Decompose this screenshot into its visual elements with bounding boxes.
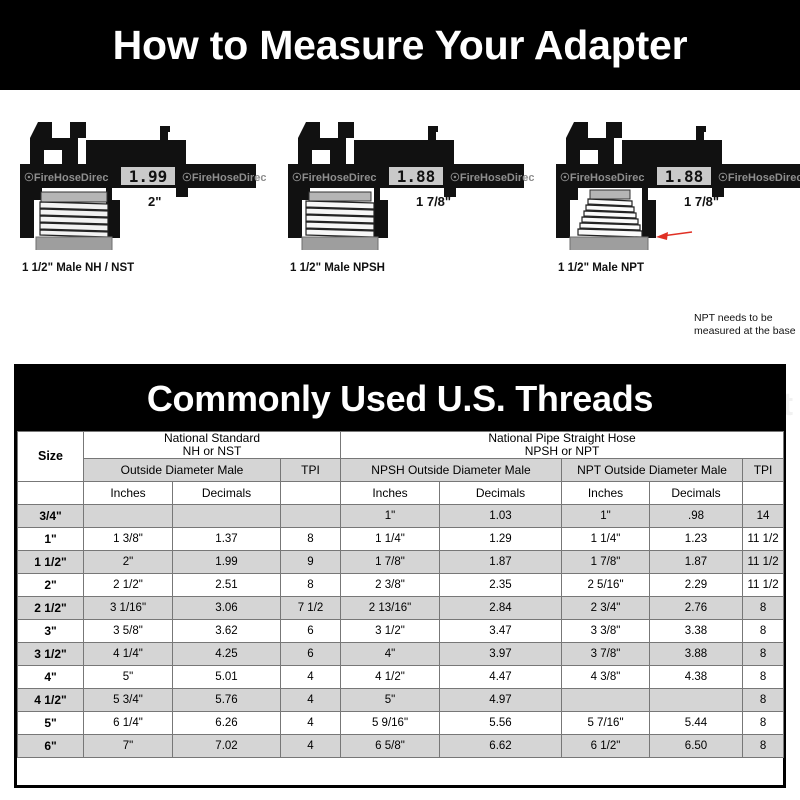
table-row: 5"6 1/4"6.2645 9/16"5.565 7/16"5.448 bbox=[18, 712, 784, 735]
header-npt-tpi: TPI bbox=[743, 459, 784, 482]
header-size: Size bbox=[18, 432, 84, 482]
cell-nh_in: 1 3/8" bbox=[84, 528, 173, 551]
header-npsh-inches: Inches bbox=[341, 482, 440, 505]
cell-size: 5" bbox=[18, 712, 84, 735]
header-npsh-decimals: Decimals bbox=[440, 482, 562, 505]
caliper-svg-npt: ☉FireHoseDirec ☉FireHoseDirect 1.88 bbox=[536, 120, 800, 250]
cell-npsh_dec: 4.97 bbox=[440, 689, 562, 712]
cell-npsh_dec: 1.87 bbox=[440, 551, 562, 574]
cell-npt_tpi: 11 1/2 bbox=[743, 551, 784, 574]
npt-note-line-1: NPT needs to be bbox=[694, 312, 796, 325]
cell-nh_dec bbox=[173, 505, 281, 528]
lcd-reading-nh: 1.99 bbox=[129, 167, 168, 186]
cell-size: 3 1/2" bbox=[18, 643, 84, 666]
cell-nh_tpi: 9 bbox=[281, 551, 341, 574]
cell-npt_in: 1 7/8" bbox=[562, 551, 650, 574]
cell-nh_tpi: 8 bbox=[281, 528, 341, 551]
caliper-illustrations: ☉FireHoseDirec ☉FireHoseDirect 1.99 bbox=[0, 90, 800, 358]
header-nh-decimals: Decimals bbox=[173, 482, 281, 505]
cell-npt_tpi: 11 1/2 bbox=[743, 528, 784, 551]
cell-nh_in: 3 5/8" bbox=[84, 620, 173, 643]
header-nh-inches: Inches bbox=[84, 482, 173, 505]
cell-npsh_in: 2 3/8" bbox=[341, 574, 440, 597]
cell-nh_in: 5" bbox=[84, 666, 173, 689]
cell-npsh_in: 3 1/2" bbox=[341, 620, 440, 643]
cell-npsh_dec: 1.29 bbox=[440, 528, 562, 551]
cell-nh_dec: 5.76 bbox=[173, 689, 281, 712]
threads-table-body: 3/4"1"1.031".98141"1 3/8"1.3781 1/4"1.29… bbox=[18, 505, 784, 758]
cell-nh_tpi: 4 bbox=[281, 712, 341, 735]
cell-nh_tpi: 6 bbox=[281, 620, 341, 643]
cell-npt_tpi: 8 bbox=[743, 735, 784, 758]
cell-npt_tpi: 11 1/2 bbox=[743, 574, 784, 597]
cell-nh_dec: 2.51 bbox=[173, 574, 281, 597]
measurement-label-npt: 1 7/8" bbox=[684, 194, 719, 209]
cell-npsh_dec: 3.97 bbox=[440, 643, 562, 666]
header-group-nh: National Standard NH or NST bbox=[84, 432, 341, 459]
header-nh-od: Outside Diameter Male bbox=[84, 459, 281, 482]
cell-size: 1 1/2" bbox=[18, 551, 84, 574]
cell-nh_dec: 5.01 bbox=[173, 666, 281, 689]
table-header-subheaders: Outside Diameter Male TPI NPSH Outside D… bbox=[18, 459, 784, 482]
cell-nh_tpi bbox=[281, 505, 341, 528]
cell-size: 3/4" bbox=[18, 505, 84, 528]
cell-nh_dec: 1.37 bbox=[173, 528, 281, 551]
caliper-diagram-npsh: ☉FireHoseDirec ☉FireHoseDirect 1.88 1 7/… bbox=[268, 90, 534, 358]
cell-nh_tpi: 4 bbox=[281, 689, 341, 712]
cell-size: 4" bbox=[18, 666, 84, 689]
cell-npsh_in: 4 1/2" bbox=[341, 666, 440, 689]
svg-text:☉FireHoseDirec: ☉FireHoseDirec bbox=[292, 172, 376, 184]
cell-size: 2 1/2" bbox=[18, 597, 84, 620]
cell-npt_tpi: 8 bbox=[743, 597, 784, 620]
caliper-svg-nh-nst: ☉FireHoseDirec ☉FireHoseDirect 1.99 bbox=[0, 120, 266, 250]
cell-nh_dec: 1.99 bbox=[173, 551, 281, 574]
cell-nh_dec: 3.62 bbox=[173, 620, 281, 643]
cell-npt_dec: 3.38 bbox=[650, 620, 743, 643]
cell-npt_in: 1 1/4" bbox=[562, 528, 650, 551]
cell-npt_in: 1" bbox=[562, 505, 650, 528]
cell-size: 4 1/2" bbox=[18, 689, 84, 712]
caliper-caption-npt: 1 1/2" Male NPT bbox=[536, 262, 800, 274]
thread-profile-straight bbox=[36, 192, 112, 250]
threads-table-title: Commonly Used U.S. Threads bbox=[17, 367, 783, 431]
cell-npsh_in: 6 5/8" bbox=[341, 735, 440, 758]
cell-nh_dec: 3.06 bbox=[173, 597, 281, 620]
cell-nh_dec: 7.02 bbox=[173, 735, 281, 758]
table-row: 3 1/2"4 1/4"4.2564"3.973 7/8"3.888 bbox=[18, 643, 784, 666]
header-group-npsh-line2: NPSH or NPT bbox=[341, 445, 783, 458]
cell-npsh_dec: 2.84 bbox=[440, 597, 562, 620]
measurement-label-nh: 2" bbox=[148, 194, 161, 209]
page-root: How to Measure Your Adapter bbox=[0, 0, 800, 800]
cell-size: 1" bbox=[18, 528, 84, 551]
cell-npt_tpi: 14 bbox=[743, 505, 784, 528]
svg-text:☉FireHoseDirect: ☉FireHoseDirect bbox=[182, 172, 266, 184]
cell-size: 6" bbox=[18, 735, 84, 758]
cell-npt_dec: 2.76 bbox=[650, 597, 743, 620]
cell-npt_in: 3 7/8" bbox=[562, 643, 650, 666]
cell-nh_tpi: 4 bbox=[281, 735, 341, 758]
cell-npt_dec: 2.29 bbox=[650, 574, 743, 597]
caliper-caption-nh-nst: 1 1/2" Male NH / NST bbox=[0, 262, 266, 274]
cell-nh_tpi: 6 bbox=[281, 643, 341, 666]
cell-npsh_in: 1 7/8" bbox=[341, 551, 440, 574]
thread-profile-straight bbox=[302, 192, 378, 250]
cell-npt_tpi: 8 bbox=[743, 666, 784, 689]
cell-nh_tpi: 4 bbox=[281, 666, 341, 689]
caliper-caption-npsh: 1 1/2" Male NPSH bbox=[268, 262, 534, 274]
npt-base-arrow-icon bbox=[656, 232, 692, 240]
header-nh-tpi: TPI bbox=[281, 459, 341, 482]
table-row: 4 1/2"5 3/4"5.7645"4.978 bbox=[18, 689, 784, 712]
cell-nh_in: 5 3/4" bbox=[84, 689, 173, 712]
cell-npt_in: 2 5/16" bbox=[562, 574, 650, 597]
cell-npt_dec: 6.50 bbox=[650, 735, 743, 758]
cell-nh_dec: 6.26 bbox=[173, 712, 281, 735]
cell-npt_in: 5 7/16" bbox=[562, 712, 650, 735]
header-unit-blank bbox=[18, 482, 84, 505]
cell-nh_tpi: 8 bbox=[281, 574, 341, 597]
table-row: 3/4"1"1.031".9814 bbox=[18, 505, 784, 528]
cell-npsh_in: 5 9/16" bbox=[341, 712, 440, 735]
header-npsh-od: NPSH Outside Diameter Male bbox=[341, 459, 562, 482]
cell-npt_in: 4 3/8" bbox=[562, 666, 650, 689]
cell-npsh_dec: 4.47 bbox=[440, 666, 562, 689]
caliper-diagram-nh-nst: ☉FireHoseDirec ☉FireHoseDirect 1.99 bbox=[0, 90, 266, 358]
cell-size: 2" bbox=[18, 574, 84, 597]
header-npt-od: NPT Outside Diameter Male bbox=[562, 459, 743, 482]
cell-nh_in bbox=[84, 505, 173, 528]
header-group-nh-line2: NH or NST bbox=[84, 445, 340, 458]
cell-nh_tpi: 7 1/2 bbox=[281, 597, 341, 620]
threads-table: Size National Standard NH or NST Nationa… bbox=[17, 431, 784, 758]
thread-profile-tapered bbox=[570, 190, 648, 250]
cell-npt_tpi: 8 bbox=[743, 712, 784, 735]
cell-nh_in: 2" bbox=[84, 551, 173, 574]
cell-npsh_dec: 1.03 bbox=[440, 505, 562, 528]
lcd-reading-npsh: 1.88 bbox=[397, 167, 436, 186]
page-title: How to Measure Your Adapter bbox=[0, 0, 800, 90]
measurement-label-npsh: 1 7/8" bbox=[416, 194, 451, 209]
table-row: 6"7"7.0246 5/8"6.626 1/2"6.508 bbox=[18, 735, 784, 758]
caliper-diagram-npt: ☉FireHoseDirec ☉FireHoseDirect 1.88 bbox=[536, 90, 800, 358]
cell-npsh_dec: 3.47 bbox=[440, 620, 562, 643]
table-row: 1"1 3/8"1.3781 1/4"1.291 1/4"1.2311 1/2 bbox=[18, 528, 784, 551]
cell-npt_tpi: 8 bbox=[743, 620, 784, 643]
header-npt-decimals: Decimals bbox=[650, 482, 743, 505]
cell-npt_tpi: 8 bbox=[743, 689, 784, 712]
cell-npt_dec: 1.23 bbox=[650, 528, 743, 551]
header-npt-inches: Inches bbox=[562, 482, 650, 505]
cell-size: 3" bbox=[18, 620, 84, 643]
cell-npt_dec: 3.88 bbox=[650, 643, 743, 666]
table-row: 1 1/2"2"1.9991 7/8"1.871 7/8"1.8711 1/2 bbox=[18, 551, 784, 574]
cell-npt_in: 2 3/4" bbox=[562, 597, 650, 620]
header-nh-tpi-blank bbox=[281, 482, 341, 505]
cell-npt_dec: .98 bbox=[650, 505, 743, 528]
cell-npt_dec: 4.38 bbox=[650, 666, 743, 689]
threads-table-panel: Commonly Used U.S. Threads Size National… bbox=[14, 364, 786, 788]
cell-npt_in: 6 1/2" bbox=[562, 735, 650, 758]
npt-note: NPT needs to be measured at the base bbox=[694, 312, 796, 338]
cell-npt_dec bbox=[650, 689, 743, 712]
cell-npsh_dec: 6.62 bbox=[440, 735, 562, 758]
cell-npsh_in: 4" bbox=[341, 643, 440, 666]
header-group-npsh: National Pipe Straight Hose NPSH or NPT bbox=[341, 432, 784, 459]
top-banner: How to Measure Your Adapter bbox=[0, 0, 800, 90]
svg-text:☉FireHoseDirec: ☉FireHoseDirec bbox=[560, 172, 644, 184]
cell-nh_in: 2 1/2" bbox=[84, 574, 173, 597]
cell-npt_in bbox=[562, 689, 650, 712]
cell-nh_in: 3 1/16" bbox=[84, 597, 173, 620]
cell-npt_dec: 5.44 bbox=[650, 712, 743, 735]
table-row: 2 1/2"3 1/16"3.067 1/22 13/16"2.842 3/4"… bbox=[18, 597, 784, 620]
svg-text:☉FireHoseDirec: ☉FireHoseDirec bbox=[24, 172, 108, 184]
header-npt-tpi-blank bbox=[743, 482, 784, 505]
cell-npsh_in: 1 1/4" bbox=[341, 528, 440, 551]
cell-nh_in: 4 1/4" bbox=[84, 643, 173, 666]
cell-npt_in: 3 3/8" bbox=[562, 620, 650, 643]
svg-text:☉FireHoseDirect: ☉FireHoseDirect bbox=[718, 172, 800, 184]
table-header-groups: Size National Standard NH or NST Nationa… bbox=[18, 432, 784, 459]
table-header-units: Inches Decimals Inches Decimals Inches D… bbox=[18, 482, 784, 505]
table-row: 4"5"5.0144 1/2"4.474 3/8"4.388 bbox=[18, 666, 784, 689]
cell-npt_dec: 1.87 bbox=[650, 551, 743, 574]
svg-text:☉FireHoseDirect: ☉FireHoseDirect bbox=[450, 172, 534, 184]
table-row: 3"3 5/8"3.6263 1/2"3.473 3/8"3.388 bbox=[18, 620, 784, 643]
npt-note-line-2: measured at the base bbox=[694, 325, 796, 338]
table-row: 2"2 1/2"2.5182 3/8"2.352 5/16"2.2911 1/2 bbox=[18, 574, 784, 597]
lcd-reading-npt: 1.88 bbox=[665, 167, 704, 186]
cell-npsh_in: 5" bbox=[341, 689, 440, 712]
cell-nh_in: 7" bbox=[84, 735, 173, 758]
cell-npsh_in: 1" bbox=[341, 505, 440, 528]
cell-npt_tpi: 8 bbox=[743, 643, 784, 666]
cell-nh_dec: 4.25 bbox=[173, 643, 281, 666]
cell-npsh_dec: 2.35 bbox=[440, 574, 562, 597]
caliper-svg-npsh: ☉FireHoseDirec ☉FireHoseDirect 1.88 1 7/… bbox=[268, 120, 534, 250]
cell-npsh_dec: 5.56 bbox=[440, 712, 562, 735]
cell-nh_in: 6 1/4" bbox=[84, 712, 173, 735]
cell-npsh_in: 2 13/16" bbox=[341, 597, 440, 620]
